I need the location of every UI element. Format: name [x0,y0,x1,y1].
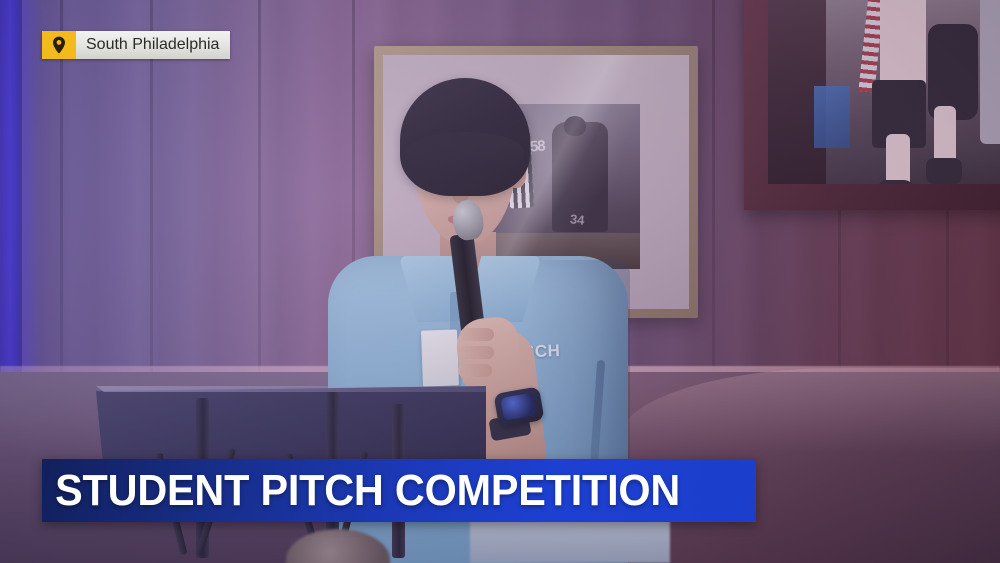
speaker-name-badge [421,329,459,386]
location-badge: South Philadelphia [42,31,230,59]
speaker-hair-fringe [406,132,524,172]
framed-photo-right-image [768,0,1000,184]
photo-blue-panel [814,86,850,148]
speaker-finger [458,364,492,377]
photo-sideline-figure [980,0,1000,144]
smartwatch-face [500,392,536,420]
photo-player-two-cleat [926,158,962,184]
photo-player-cleat [878,180,914,184]
framed-photo-right [744,0,1000,210]
wall-panel-seam [258,0,261,382]
speaker-finger [460,328,494,341]
blue-light-strip [0,0,22,383]
wall-panel-seam [712,0,715,382]
blue-light-glow [22,0,38,383]
photo-player-two [928,24,978,120]
music-stand-lip [96,386,486,392]
photo-player-torso [880,0,926,90]
location-label: South Philadelphia [76,31,230,59]
lower-third-headline: STUDENT PITCH COMPETITION [42,466,680,516]
audience-member-shoulder [470,520,670,563]
lower-third-banner: STUDENT PITCH COMPETITION [42,459,756,522]
photo-player-leg [886,134,910,184]
broadcast-video-frame: 58 34 SCH [0,0,1000,563]
speaker-finger [458,346,494,359]
map-pin-icon [42,31,76,59]
